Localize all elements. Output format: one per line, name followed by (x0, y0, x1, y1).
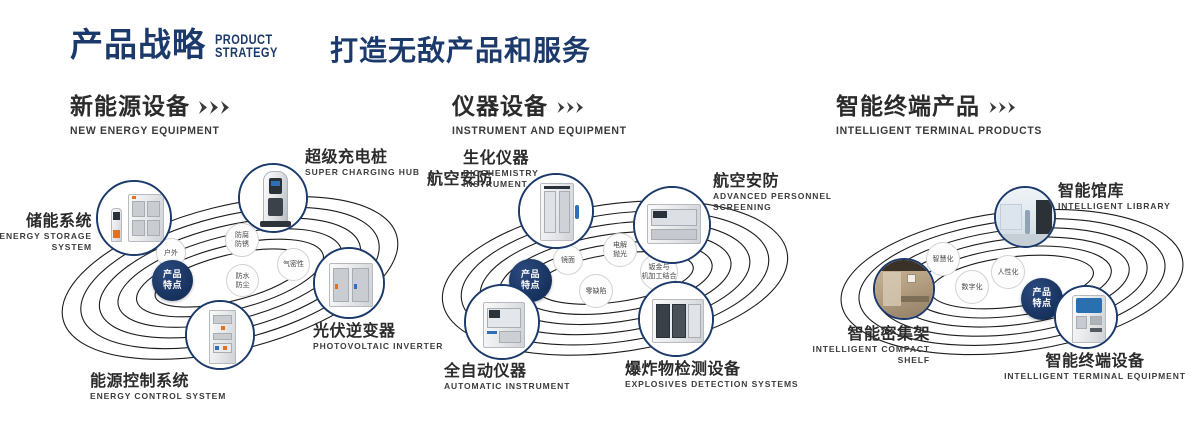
chevron-right-icon (199, 101, 233, 114)
feature-bubble: 镜面 (553, 245, 583, 275)
label-personnel-screening: 航空安防 ADVANCED PERSONNELSCREENING (713, 172, 832, 213)
cluster-intelligent-terminal: 智慧化 人性化 数字化 产品特点 智能馆库 INTELLIGENT LIBRAR… (822, 160, 1200, 390)
feature-bubble: 防水防尘 (226, 264, 259, 297)
section-title-cn: 仪器设备 (452, 95, 636, 120)
label-en: INTELLIGENT COMPACTSHELF (770, 344, 930, 366)
feature-bubble: 数字化 (955, 270, 989, 304)
section-title-en: NEW ENERGY EQUIPMENT (70, 125, 225, 137)
section-title-cn: 新能源设备 (70, 95, 233, 120)
label-en: INTELLIGENT TERMINAL EQUIPMENT (1000, 371, 1190, 382)
node-automatic-instrument[interactable] (464, 284, 540, 360)
label-self-service-kiosk: 智能终端设备 INTELLIGENT TERMINAL EQUIPMENT (1000, 352, 1190, 382)
label-energy-storage-system: 储能系统 ENERGY STORAGESYSTEM (0, 212, 92, 253)
section-title-en: INSTRUMENT AND EQUIPMENT (452, 125, 627, 137)
label-photovoltaic-inverter: 光伏逆变器 PHOTOVOLTAIC INVERTER (313, 322, 443, 352)
cluster-new-energy: 户外 防腐防锈 防水防尘 气密性 产品特点 储能系统 ENERGY STORAG… (40, 150, 420, 390)
chevron-right-icon (989, 102, 1019, 113)
section-title-instrument: 仪器设备 INSTRUMENT AND EQUIPMENT (452, 95, 636, 137)
section-title-cn: 智能终端产品 (836, 95, 1053, 120)
node-personnel-screening[interactable] (633, 186, 711, 264)
label-en: ENERGY STORAGESYSTEM (0, 231, 92, 253)
node-smart-library[interactable] (994, 186, 1056, 248)
label-energy-control-system: 能源控制系统 ENERGY CONTROL SYSTEM (90, 372, 226, 402)
headline: 打造无敌产品和服务 (330, 34, 591, 68)
label-en: EXPLOSIVES DETECTION SYSTEMS (625, 379, 799, 390)
node-explosives-detection[interactable] (638, 281, 714, 357)
brand-title-cn: 产品战略 (70, 28, 206, 61)
node-photovoltaic-inverter[interactable] (313, 247, 385, 319)
feature-bubble: 人性化 (991, 255, 1025, 289)
label-en: PHOTOVOLTAIC INVERTER (313, 341, 443, 352)
label-en: AUTOMATIC INSTRUMENT (444, 381, 570, 392)
node-energy-control-system[interactable] (185, 300, 255, 370)
label-en: INTELLIGENT LIBRARY (1058, 201, 1171, 212)
brand-en-line2: STRATEGY (215, 46, 278, 59)
label-en: ADVANCED PERSONNELSCREENING (713, 191, 832, 213)
chevron-right-icon (557, 102, 587, 113)
label-biochemistry-instrument: 生化仪器 BIOCHEMISTRYINSTRUMENT (463, 149, 539, 190)
label-en: ENERGY CONTROL SYSTEM (90, 391, 226, 402)
node-self-service-kiosk[interactable] (1054, 285, 1118, 349)
node-super-charging-hub[interactable] (238, 163, 308, 233)
section-title-intelligent-terminal: 智能终端产品 INTELLIGENT TERMINAL PRODUCTS (836, 95, 1053, 137)
node-energy-storage-system[interactable] (96, 180, 172, 256)
product-feature-badge: 产品特点 (152, 260, 193, 301)
feature-bubble: 零缺陷 (579, 274, 613, 308)
label-automatic-instrument: 全自动仪器 AUTOMATIC INSTRUMENT (444, 362, 570, 392)
label-compact-shelf: 智能密集架 INTELLIGENT COMPACTSHELF (770, 325, 930, 366)
node-compact-shelf[interactable] (873, 258, 935, 320)
product-strategy-infographic: 产品战略 PRODUCT STRATEGY 打造无敌产品和服务 新能源设备 NE… (0, 0, 1200, 422)
brand-title-en: PRODUCT STRATEGY (215, 33, 278, 59)
label-smart-library: 智能馆库 INTELLIGENT LIBRARY (1058, 182, 1171, 212)
section-title-en: INTELLIGENT TERMINAL PRODUCTS (836, 125, 1042, 137)
brand-header: 产品战略 PRODUCT STRATEGY (70, 28, 292, 61)
feature-bubble: 气密性 (277, 248, 310, 281)
cluster-instrument: 镜面 电解抛光 钣金与机加工结合 零缺陷 产品特点 航空安防 生化仪器 BIOC… (425, 150, 805, 390)
label-en: BIOCHEMISTRYINSTRUMENT (463, 168, 539, 190)
section-title-new-energy: 新能源设备 NEW ENERGY EQUIPMENT (70, 95, 233, 137)
feature-bubble: 电解抛光 (603, 233, 637, 267)
